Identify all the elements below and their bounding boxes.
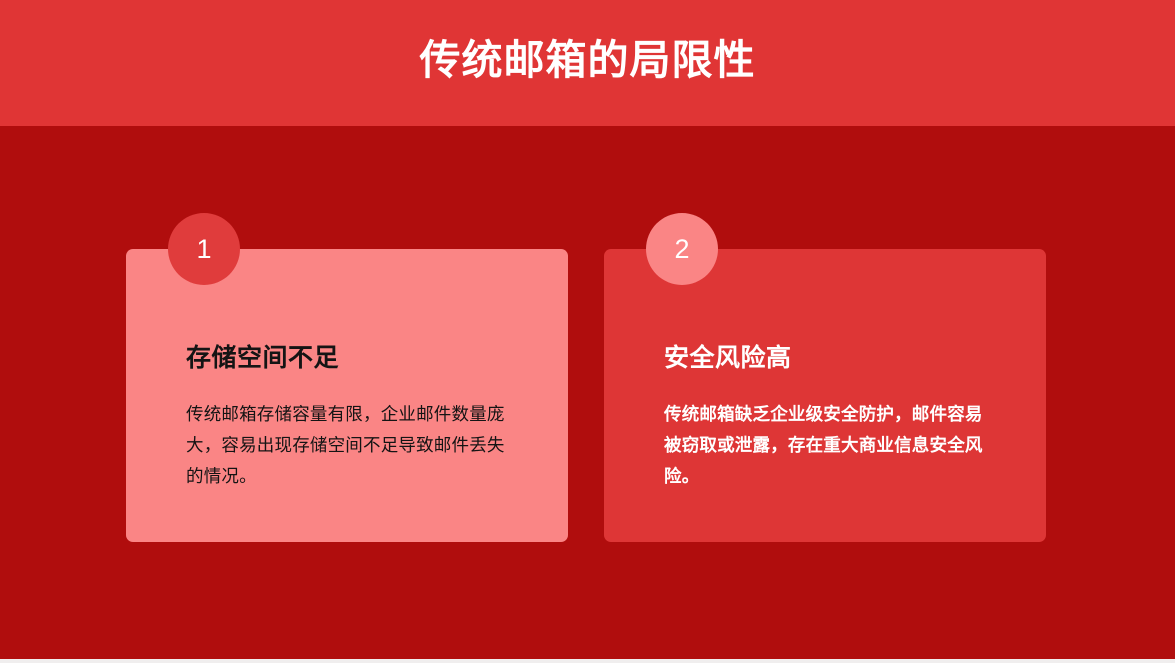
card-2-heading: 安全风险高	[664, 343, 1006, 373]
slide-root: 传统邮箱的局限性 1 存储空间不足 传统邮箱存储容量有限，企业邮件数量庞大，容易…	[0, 0, 1175, 659]
card-1-heading: 存储空间不足	[186, 343, 528, 373]
slide-header-band: 传统邮箱的局限性	[0, 0, 1175, 126]
card-number-badge-1: 1	[168, 213, 240, 285]
cards-area: 1 存储空间不足 传统邮箱存储容量有限，企业邮件数量庞大，容易出现存储空间不足导…	[0, 126, 1175, 659]
card-1-body: 存储空间不足 传统邮箱存储容量有限，企业邮件数量庞大，容易出现存储空间不足导致邮…	[186, 343, 528, 492]
page-title: 传统邮箱的局限性	[420, 38, 756, 87]
card-number-badge-2: 2	[646, 213, 718, 285]
page-bottom-edge	[0, 659, 1175, 663]
card-2-body: 安全风险高 传统邮箱缺乏企业级安全防护，邮件容易被窃取或泄露，存在重大商业信息安…	[664, 343, 1006, 492]
limitation-card-1[interactable]: 1 存储空间不足 传统邮箱存储容量有限，企业邮件数量庞大，容易出现存储空间不足导…	[126, 249, 568, 542]
card-2-description: 传统邮箱缺乏企业级安全防护，邮件容易被窃取或泄露，存在重大商业信息安全风险。	[664, 399, 986, 492]
limitation-card-2[interactable]: 2 安全风险高 传统邮箱缺乏企业级安全防护，邮件容易被窃取或泄露，存在重大商业信…	[604, 249, 1046, 542]
card-1-description: 传统邮箱存储容量有限，企业邮件数量庞大，容易出现存储空间不足导致邮件丢失的情况。	[186, 399, 508, 492]
